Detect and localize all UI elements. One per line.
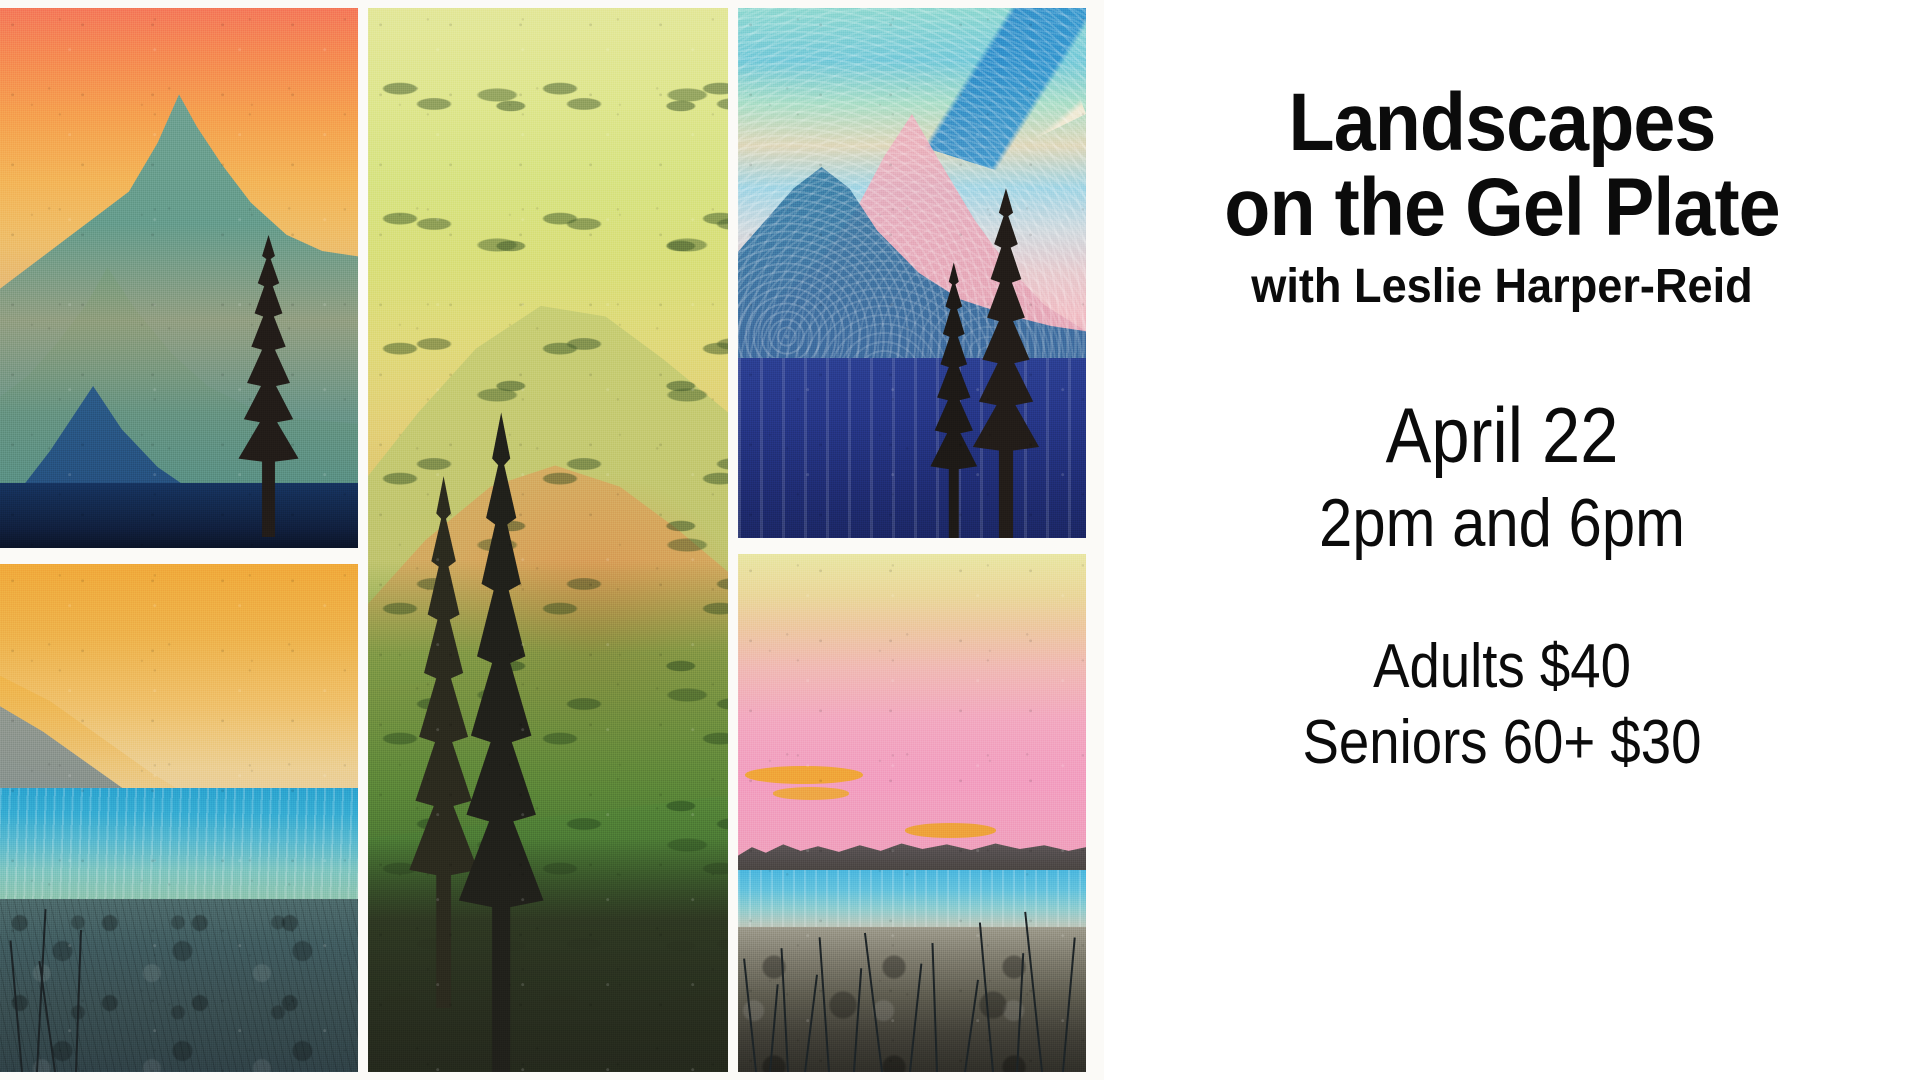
ink-speckle-texture <box>0 8 358 548</box>
ink-speckle-texture <box>368 8 728 1072</box>
panel-green-forest <box>368 8 728 1072</box>
gallery-column-center <box>368 8 728 1072</box>
poster-title-line-2: on the Gel Plate <box>1154 165 1850 250</box>
panel-golden-lake <box>0 564 358 1072</box>
panel-sunset-mountains <box>0 8 358 548</box>
ink-speckle-texture <box>0 564 358 1072</box>
price-adults: Adults $40 <box>1169 633 1834 701</box>
poster-title-line-1: Landscapes <box>1154 80 1850 165</box>
ink-speckle-texture <box>738 554 1086 1072</box>
workshop-poster: Landscapes on the Gel Plate with Leslie … <box>0 0 1920 1080</box>
gallery-column-right <box>738 8 1086 1072</box>
panel-pink-marsh <box>738 554 1086 1072</box>
poster-text-panel: Landscapes on the Gel Plate with Leslie … <box>1104 0 1920 1080</box>
panel-blue-winter <box>738 8 1086 538</box>
event-date: April 22 <box>1169 395 1834 477</box>
instructor-subtitle: with Leslie Harper-Reid <box>1147 257 1858 317</box>
price-seniors: Seniors 60+ $30 <box>1169 709 1834 777</box>
gallery-column-left <box>0 8 358 1072</box>
artwork-gallery <box>0 0 1104 1080</box>
event-times: 2pm and 6pm <box>1169 486 1834 561</box>
ink-speckle-texture <box>738 8 1086 538</box>
